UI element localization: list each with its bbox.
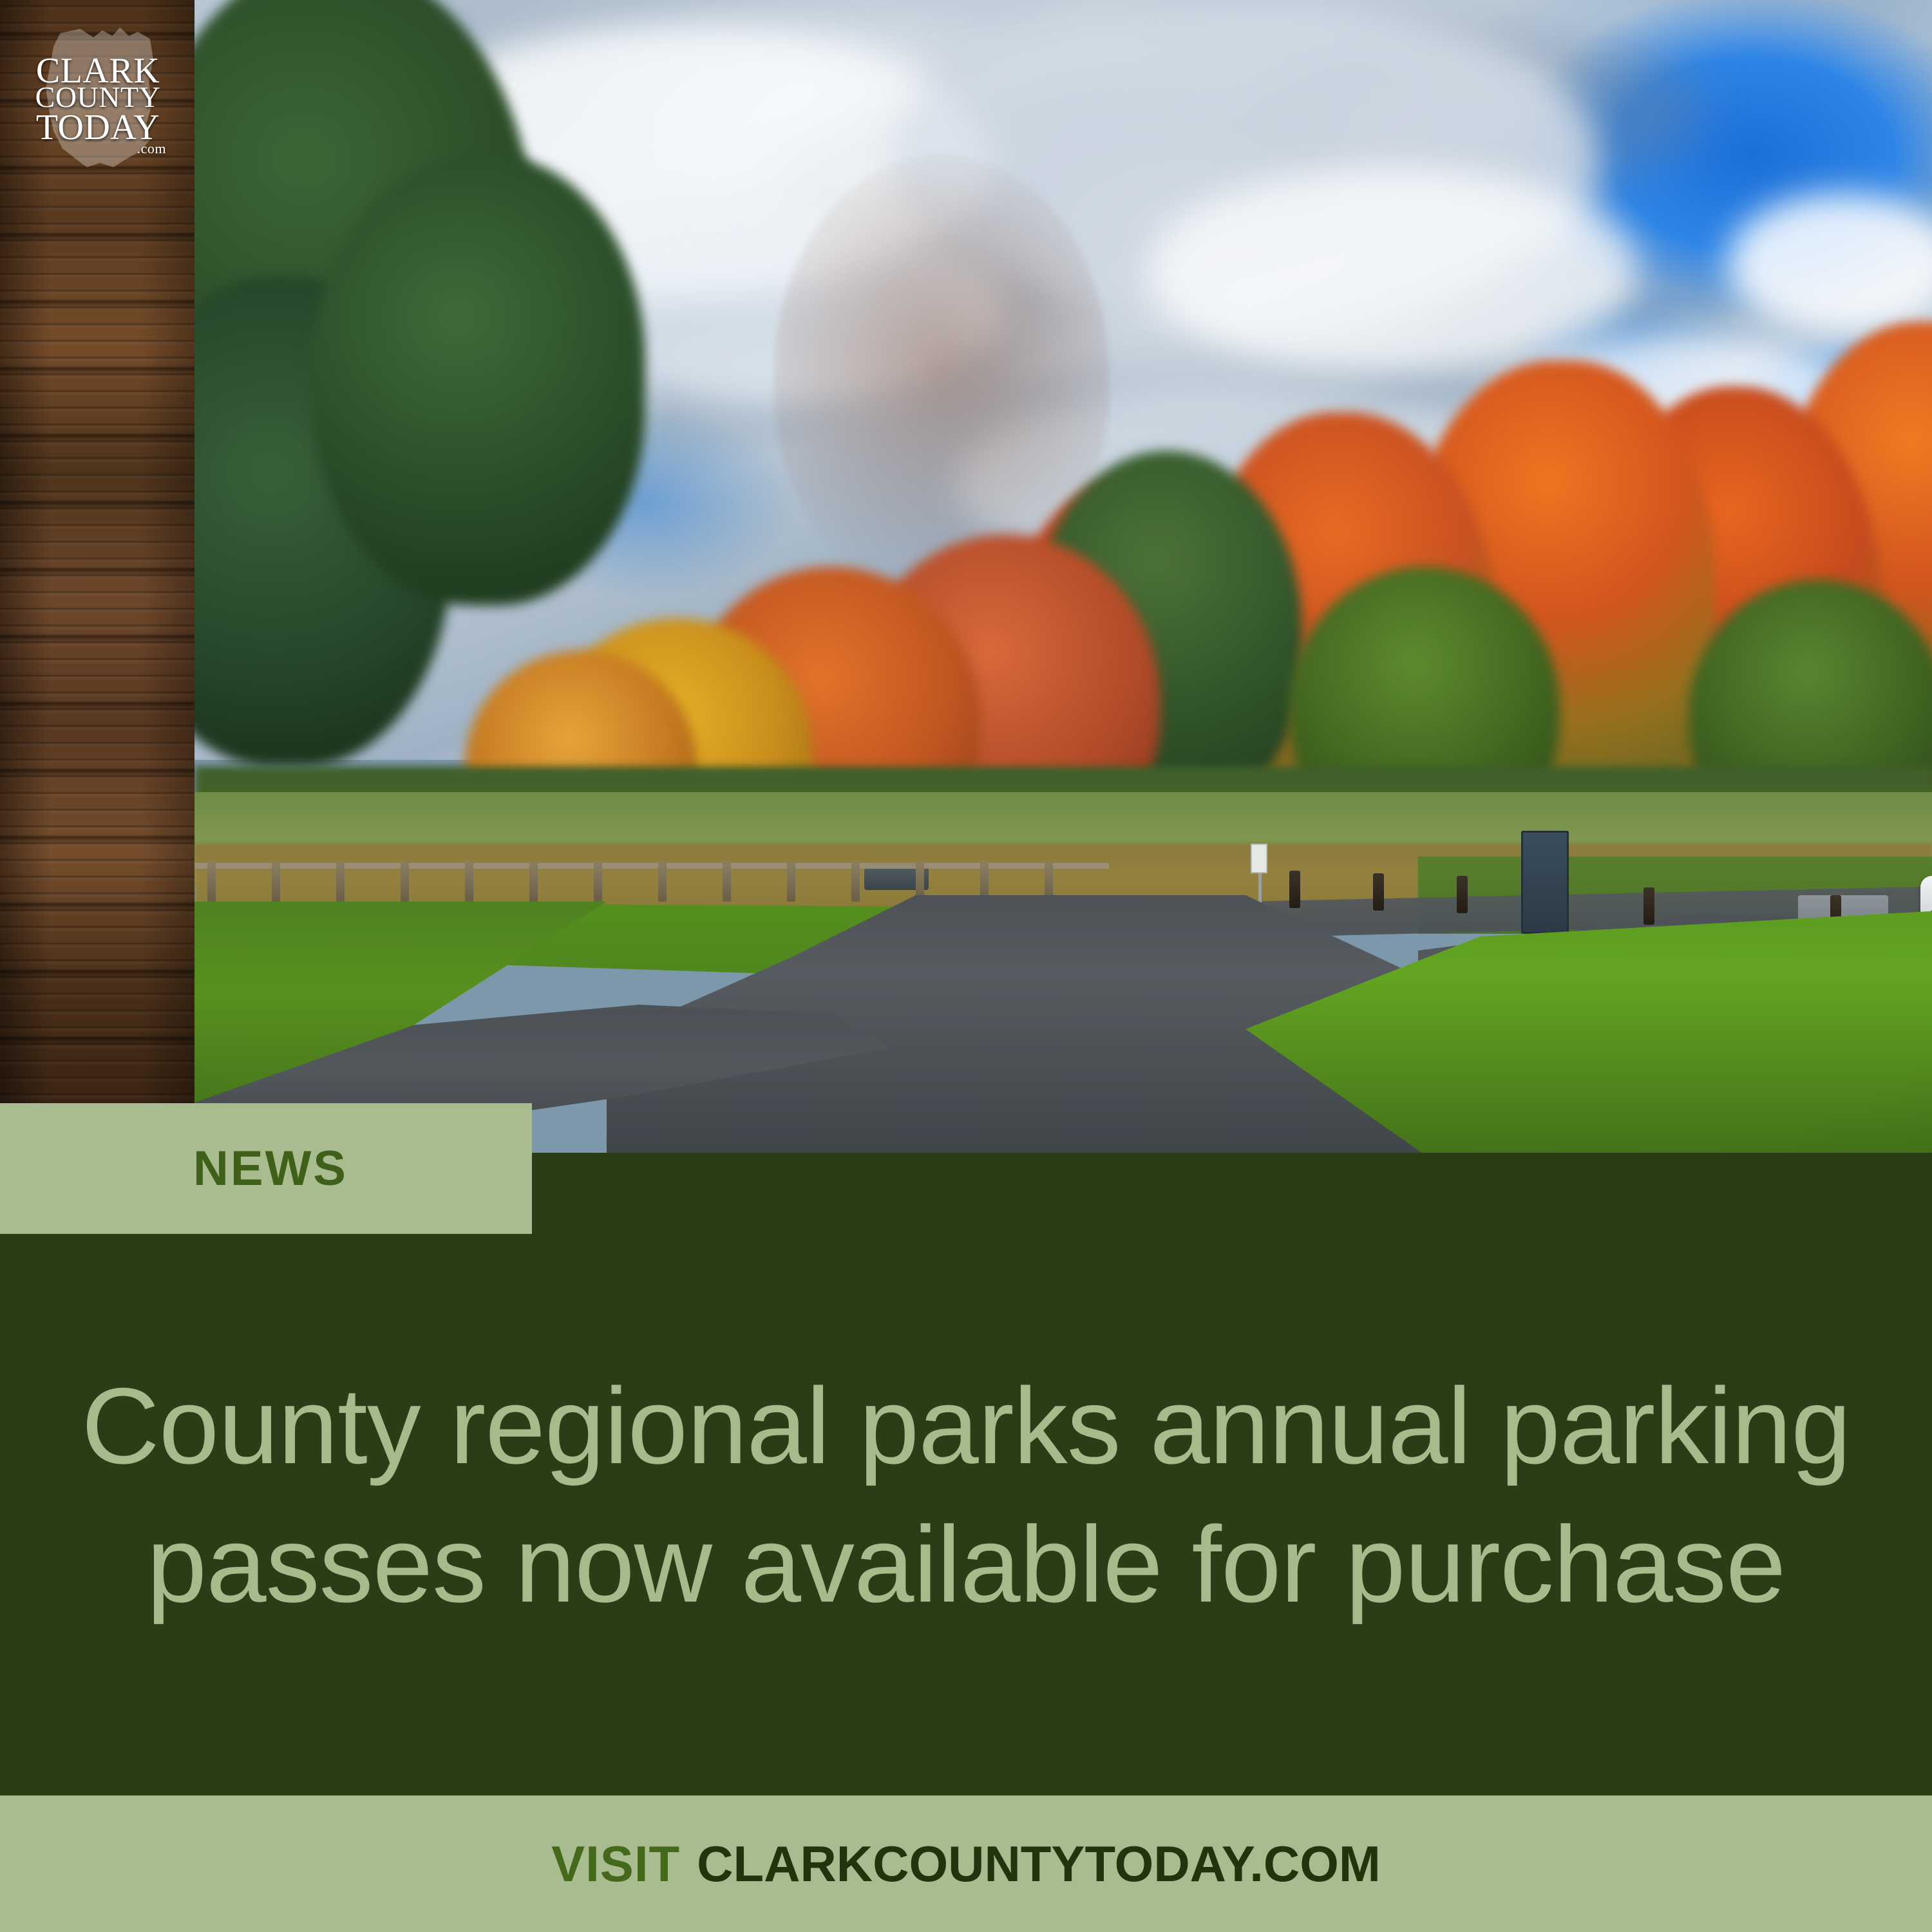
bollard [1373, 873, 1384, 911]
fence-post [401, 862, 409, 902]
bollard [1643, 887, 1654, 925]
category-badge: NEWS [0, 1103, 532, 1234]
tree-canopy-left [310, 155, 645, 605]
fence-post [465, 862, 473, 902]
park-information-sign [1521, 831, 1569, 934]
footer-inner: VISIT CLARKCOUNTYTODAY.COM [551, 1839, 1381, 1889]
fence-post [207, 862, 216, 902]
footer-visit-label: VISIT [551, 1839, 680, 1889]
footer-domain-link[interactable]: CLARKCOUNTYTODAY.COM [697, 1839, 1381, 1889]
page-title: County regional parks annual parking pas… [71, 1357, 1861, 1634]
news-card: CLARK COUNTY TODAY .com [0, 0, 1932, 1932]
category-label: NEWS [193, 1144, 348, 1193]
fence-post [594, 862, 602, 902]
fence-post [272, 862, 280, 902]
fence-rail [194, 863, 1109, 869]
fence-post [851, 862, 860, 902]
bollard [1289, 871, 1300, 908]
fence-post [529, 862, 538, 902]
headline-section: County regional parks annual parking pas… [0, 1234, 1932, 1795]
fence-post [723, 862, 731, 902]
hero-photo [194, 0, 1932, 1153]
cloud [1148, 167, 1637, 374]
white-suv [1920, 876, 1932, 916]
bollard [1457, 876, 1468, 913]
wood-texture-sidebar [0, 0, 194, 1153]
fence-post [336, 862, 345, 902]
fence-post [658, 862, 667, 902]
wooden-fence [194, 857, 1109, 902]
trail-sign [1251, 844, 1267, 873]
footer-visit-bar[interactable]: VISIT CLARKCOUNTYTODAY.COM [0, 1795, 1932, 1932]
fence-post [787, 862, 795, 902]
